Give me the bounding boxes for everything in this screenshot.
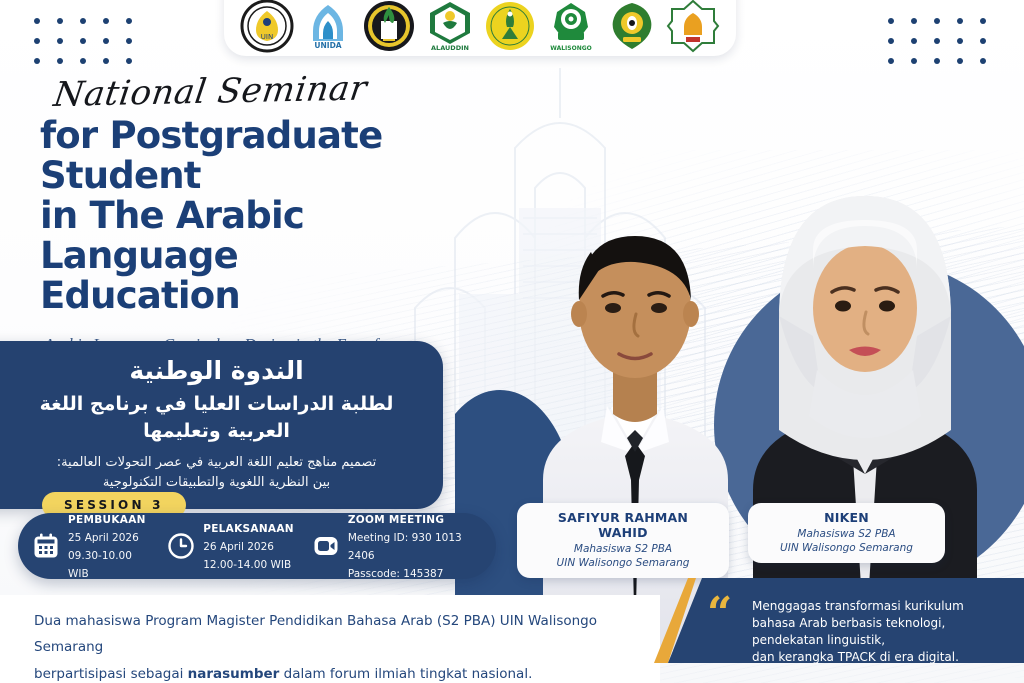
logo-universitas-negeri <box>483 0 537 53</box>
note-line-1: Dua mahasiswa Program Magister Pendidika… <box>34 608 634 661</box>
speaker-role: Mahasiswa S2 PBA UIN Walisongo Semarang <box>764 527 929 555</box>
speaker-name: SAFIYUR RAHMAN WAHID <box>533 510 713 540</box>
speaker-role-line-2: UIN Walisongo Semarang <box>780 542 913 554</box>
speaker-role: Mahasiswa S2 PBA UIN Walisongo Semarang <box>533 542 713 570</box>
arabic-line-2: لطلبة الدراسات العليا في برنامج اللغة ال… <box>16 391 417 446</box>
speaker-role-line-1: Mahasiswa S2 PBA <box>574 543 672 555</box>
info-item-zoom: ZOOM MEETING Meeting ID: 930 1013 2406 P… <box>312 510 482 582</box>
info-item-pelaksanaan: PELAKSANAAN 26 April 2026 12.00-14.00 WI… <box>167 519 294 573</box>
dot-grid-right <box>888 18 986 64</box>
title-line-2: in The Arabic Language <box>40 196 510 276</box>
quote-text: Menggagas transformasi kurikulum bahasa … <box>752 598 1014 666</box>
bottom-note: Dua mahasiswa Program Magister Pendidika… <box>34 608 634 683</box>
svg-text:WALISONGO: WALISONGO <box>550 45 592 52</box>
speaker-namecard-1: SAFIYUR RAHMAN WAHID Mahasiswa S2 PBA UI… <box>517 503 729 578</box>
info-key: PEMBUKAAN <box>68 514 146 526</box>
logo-uin-syarif-hidayatullah: UIN <box>240 0 294 53</box>
quote-line-3: pendekatan linguistik, <box>752 632 1014 649</box>
logo-uin-alauddin-makassar: ALAUDDIN <box>423 0 477 53</box>
info-text-pelaksanaan: PELAKSANAAN 26 April 2026 12.00-14.00 WI… <box>203 519 294 573</box>
arabic-line-4: بين النظرية اللغوية والتطبيقات التكنولوج… <box>16 473 417 493</box>
quote-line-1: Menggagas transformasi kurikulum <box>752 598 1014 615</box>
script-heading: National Seminar <box>52 68 514 112</box>
note-bold-word: narasumber <box>188 666 280 682</box>
video-camera-icon <box>312 532 340 560</box>
info-value-1: 26 April 2026 <box>203 541 274 553</box>
logo-uin-walisongo: WALISONGO <box>544 0 598 53</box>
quote-line-2: bahasa Arab berbasis teknologi, <box>752 615 1014 632</box>
university-logo-bar: UIN UNIDA ALAUDDIN WALISONGO <box>224 0 736 56</box>
quote-mark-icon: “ <box>707 592 730 636</box>
svg-text:UIN: UIN <box>261 33 273 41</box>
logo-uin-sunan-kalijaga <box>362 0 416 53</box>
event-info-bar: PEMBUKAAN 25 April 2026 09.30-10.00 WIB … <box>18 513 496 579</box>
info-key: ZOOM MEETING <box>348 514 444 526</box>
info-value-1: 25 April 2026 <box>68 532 139 544</box>
info-text-zoom: ZOOM MEETING Meeting ID: 930 1013 2406 P… <box>348 510 482 582</box>
info-value-1: Meeting ID: 930 1013 2406 <box>348 532 462 562</box>
speaker-role-line-1: Mahasiswa S2 PBA <box>797 528 895 540</box>
calendar-icon <box>32 532 60 560</box>
title-line-3: Education <box>40 276 510 316</box>
note-line-2-b: dalam forum ilmiah tingkat nasional. <box>279 666 532 682</box>
arabic-line-1: الندوة الوطنية <box>16 355 417 388</box>
arabic-title-panel: الندوة الوطنية لطلبة الدراسات العليا في … <box>0 341 443 509</box>
svg-text:ALAUDDIN: ALAUDDIN <box>431 44 469 52</box>
logo-uin-maliki <box>605 0 659 53</box>
info-value-2: Passcode: 145387 <box>348 568 444 580</box>
title-line-1: for Postgraduate Student <box>40 116 510 196</box>
dot-grid-left <box>34 18 132 64</box>
speaker-photo-female <box>725 130 1005 650</box>
speaker-role-line-2: UIN Walisongo Semarang <box>557 557 690 569</box>
note-line-2-a: berpartisipasi sebagai <box>34 666 188 682</box>
logo-unida-gontor: UNIDA <box>301 0 355 53</box>
seminar-poster: UIN UNIDA ALAUDDIN WALISONGO National Se… <box>0 0 1024 683</box>
arabic-line-3: تصميم مناهج تعليم اللغة العربية في عصر ا… <box>16 453 417 473</box>
quote-line-4: dan kerangka TPACK di era digital. <box>752 649 1014 666</box>
info-value-2: 09.30-10.00 WIB <box>68 550 132 580</box>
speaker-name: NIKEN <box>764 510 929 525</box>
logo-uin-star <box>666 0 720 53</box>
page-title: for Postgraduate Student in The Arabic L… <box>40 116 510 316</box>
info-key: PELAKSANAAN <box>203 523 294 535</box>
info-value-2: 12.00-14.00 WIB <box>203 559 291 571</box>
clock-icon <box>167 532 195 560</box>
note-line-2: berpartisipasi sebagai narasumber dalam … <box>34 661 634 683</box>
svg-text:UNIDA: UNIDA <box>314 41 341 50</box>
speaker-namecard-2: NIKEN Mahasiswa S2 PBA UIN Walisongo Sem… <box>748 503 945 563</box>
info-text-pembukaan: PEMBUKAAN 25 April 2026 09.30-10.00 WIB <box>68 510 149 582</box>
info-item-pembukaan: PEMBUKAAN 25 April 2026 09.30-10.00 WIB <box>32 510 149 582</box>
